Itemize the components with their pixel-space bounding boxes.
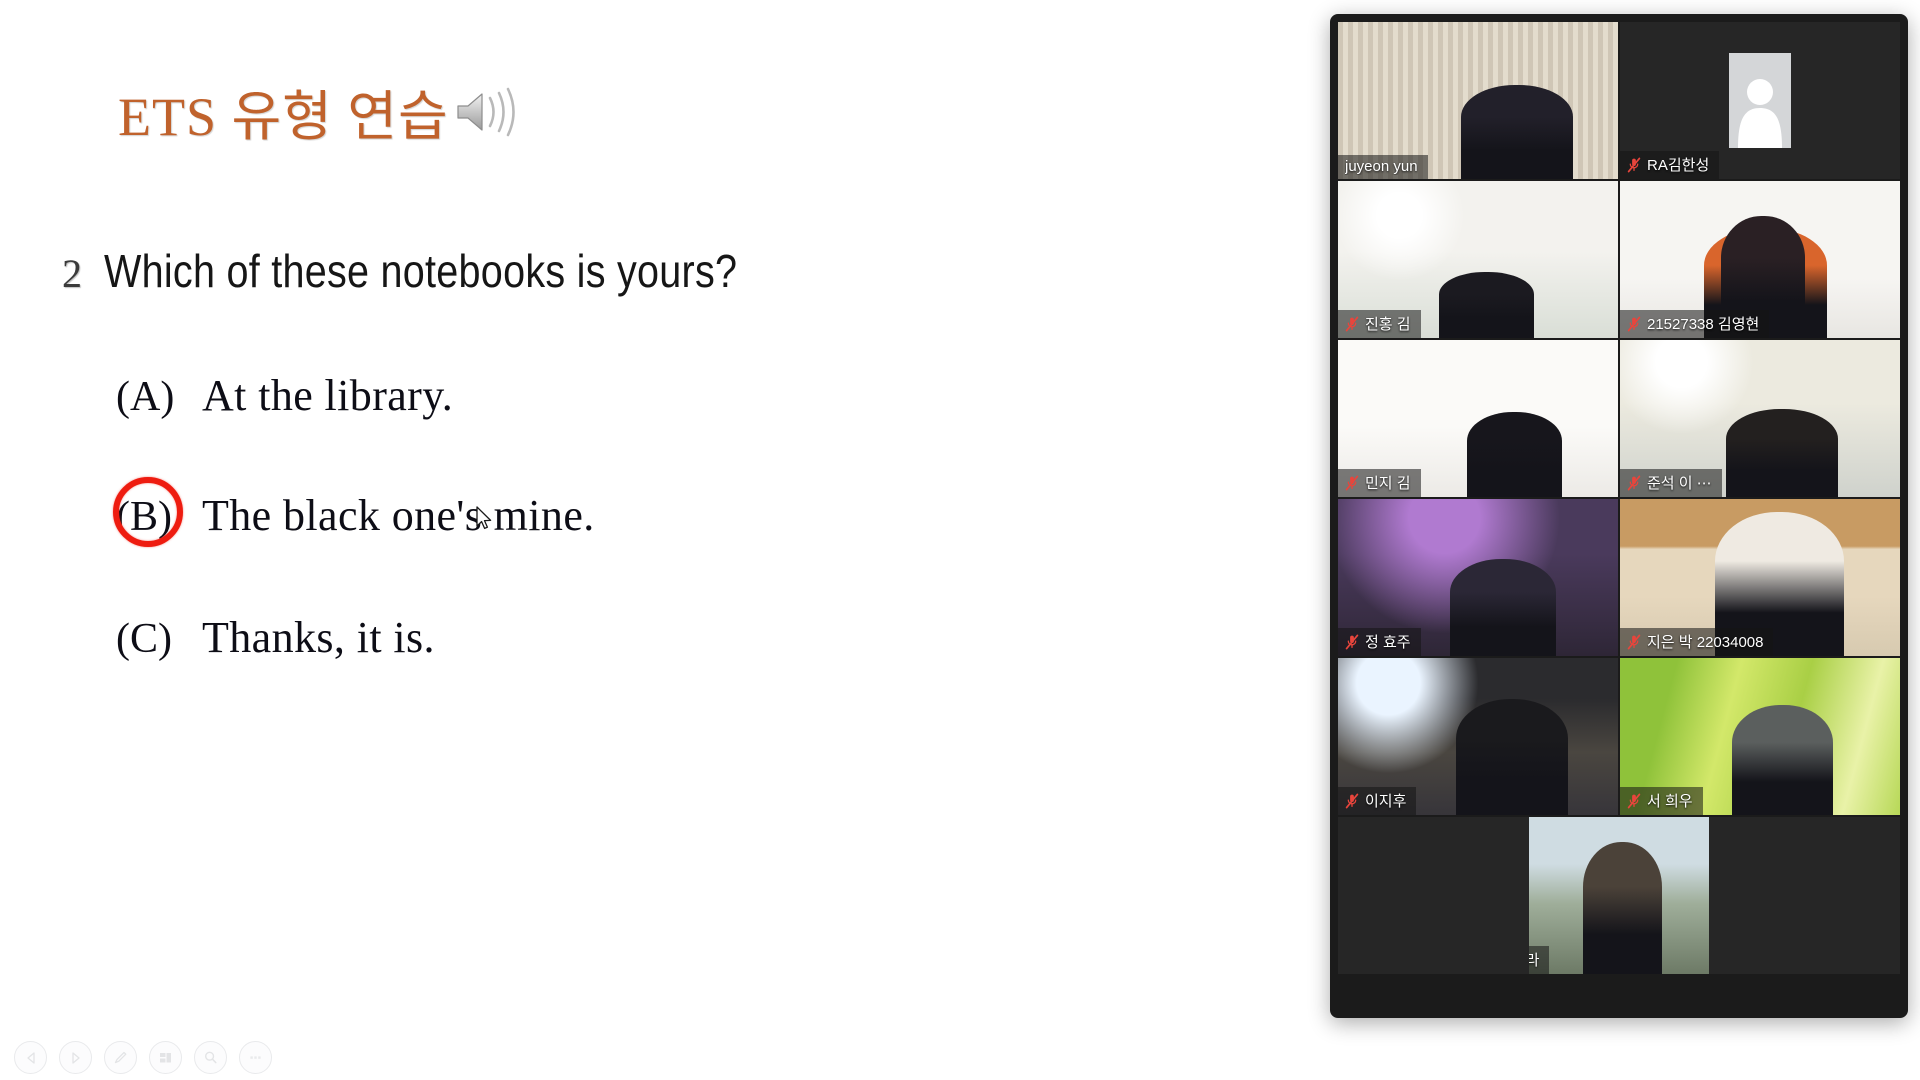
triangle-right-icon bbox=[68, 1050, 84, 1066]
participant-name: 정 효주 bbox=[1365, 631, 1411, 652]
mouse-cursor-arrow bbox=[476, 506, 494, 532]
participant-name-badge: RA김한성 bbox=[1620, 151, 1719, 179]
participant-tile[interactable]: 진홍 김 bbox=[1338, 181, 1618, 338]
pen-tools-button[interactable] bbox=[104, 1041, 137, 1074]
participant-name-badge: 정 효주 bbox=[1338, 628, 1421, 656]
choice-c-label: (C) bbox=[116, 615, 202, 663]
participant-name: juyeon yun bbox=[1345, 158, 1418, 175]
muted-microphone-icon bbox=[1345, 634, 1359, 650]
triangle-left-icon bbox=[23, 1050, 39, 1066]
participant-name: 이지후 bbox=[1365, 790, 1406, 811]
participant-tile[interactable]: 준석 이 ⋯ bbox=[1620, 340, 1900, 497]
participant-tile[interactable]: RA김한성 bbox=[1620, 22, 1900, 179]
participant-name-badge: 준석 이 ⋯ bbox=[1620, 469, 1722, 497]
participant-name: 서 희우 bbox=[1647, 790, 1693, 811]
choice-a-label: (A) bbox=[116, 373, 202, 421]
grid-slides-icon bbox=[157, 1049, 174, 1066]
participant-tile[interactable]: 지은 박 22034008 bbox=[1620, 499, 1900, 656]
presenter-toolbar[interactable] bbox=[14, 1041, 272, 1074]
muted-microphone-icon bbox=[1627, 475, 1641, 491]
participant-name: 박보라 bbox=[1529, 949, 1539, 970]
participant-name-badge: 진홍 김 bbox=[1338, 310, 1421, 338]
participant-name-badge: 박보라 bbox=[1529, 946, 1549, 974]
ink-annotation-circle bbox=[113, 477, 183, 547]
ellipsis-icon bbox=[247, 1049, 264, 1066]
participant-name-badge: 민지 김 bbox=[1338, 469, 1421, 497]
participant-tile[interactable]: 서 희우 bbox=[1620, 658, 1900, 815]
participant-tile[interactable]: 이지후 bbox=[1338, 658, 1618, 815]
participant-name-badge: 서 희우 bbox=[1620, 787, 1703, 815]
choice-b-text: The black one's mine. bbox=[202, 490, 595, 541]
choice-c-text: Thanks, it is. bbox=[202, 612, 435, 663]
participant-name-badge: 21527338 김영현 bbox=[1620, 310, 1769, 338]
participant-name: 지은 박 22034008 bbox=[1647, 631, 1763, 652]
magnifier-icon bbox=[202, 1049, 219, 1066]
participant-name: 민지 김 bbox=[1365, 472, 1411, 493]
participant-name-badge: juyeon yun bbox=[1338, 155, 1428, 179]
person-silhouette-icon bbox=[1734, 70, 1786, 148]
question-text: Which of these notebooks is yours? bbox=[104, 244, 737, 298]
muted-microphone-icon bbox=[1627, 316, 1641, 332]
muted-microphone-icon bbox=[1345, 316, 1359, 332]
participant-name: 진홍 김 bbox=[1365, 313, 1411, 334]
participant-tile[interactable]: 민지 김 bbox=[1338, 340, 1618, 497]
question-number: 2 bbox=[62, 250, 82, 297]
participant-name: RA김한성 bbox=[1647, 154, 1709, 175]
muted-microphone-icon bbox=[1627, 634, 1641, 650]
muted-microphone-icon bbox=[1627, 793, 1641, 809]
slide-title: ETS 유형 연습 bbox=[118, 72, 517, 151]
participant-bottom-row: 박보라 bbox=[1338, 817, 1900, 974]
all-slides-button[interactable] bbox=[149, 1041, 182, 1074]
participant-name-badge: 이지후 bbox=[1338, 787, 1416, 815]
choice-a-text: At the library. bbox=[202, 370, 453, 421]
participant-name: 21527338 김영현 bbox=[1647, 313, 1759, 334]
zoom-in-button[interactable] bbox=[194, 1041, 227, 1074]
choice-b: (B) The black one's mine. bbox=[116, 490, 595, 541]
previous-slide-button[interactable] bbox=[14, 1041, 47, 1074]
avatar-card bbox=[1729, 53, 1791, 148]
choice-c: (C) Thanks, it is. bbox=[116, 612, 435, 663]
participant-tile[interactable]: 정 효주 bbox=[1338, 499, 1618, 656]
participant-tile[interactable]: 박보라 bbox=[1529, 817, 1709, 974]
slide-title-text: ETS 유형 연습 bbox=[118, 72, 449, 151]
zoom-gallery-panel[interactable]: juyeon yun RA김한성 진홍 김 bbox=[1330, 14, 1908, 1018]
more-options-button[interactable] bbox=[239, 1041, 272, 1074]
muted-microphone-icon bbox=[1345, 793, 1359, 809]
pen-icon bbox=[112, 1049, 129, 1066]
question-line: 2 Which of these notebooks is yours? bbox=[62, 244, 840, 298]
participant-figure bbox=[1529, 817, 1709, 974]
choice-a: (A) At the library. bbox=[116, 370, 453, 421]
participant-tile[interactable]: juyeon yun bbox=[1338, 22, 1618, 179]
participant-name: 준석 이 ⋯ bbox=[1647, 472, 1712, 493]
speaker-sound-icon[interactable] bbox=[455, 86, 517, 138]
participant-tile[interactable]: 21527338 김영현 bbox=[1620, 181, 1900, 338]
next-slide-button[interactable] bbox=[59, 1041, 92, 1074]
participant-tile-grid: juyeon yun RA김한성 진홍 김 bbox=[1338, 22, 1900, 815]
participant-name-badge: 지은 박 22034008 bbox=[1620, 628, 1773, 656]
muted-microphone-icon bbox=[1627, 157, 1641, 173]
muted-microphone-icon bbox=[1345, 475, 1359, 491]
